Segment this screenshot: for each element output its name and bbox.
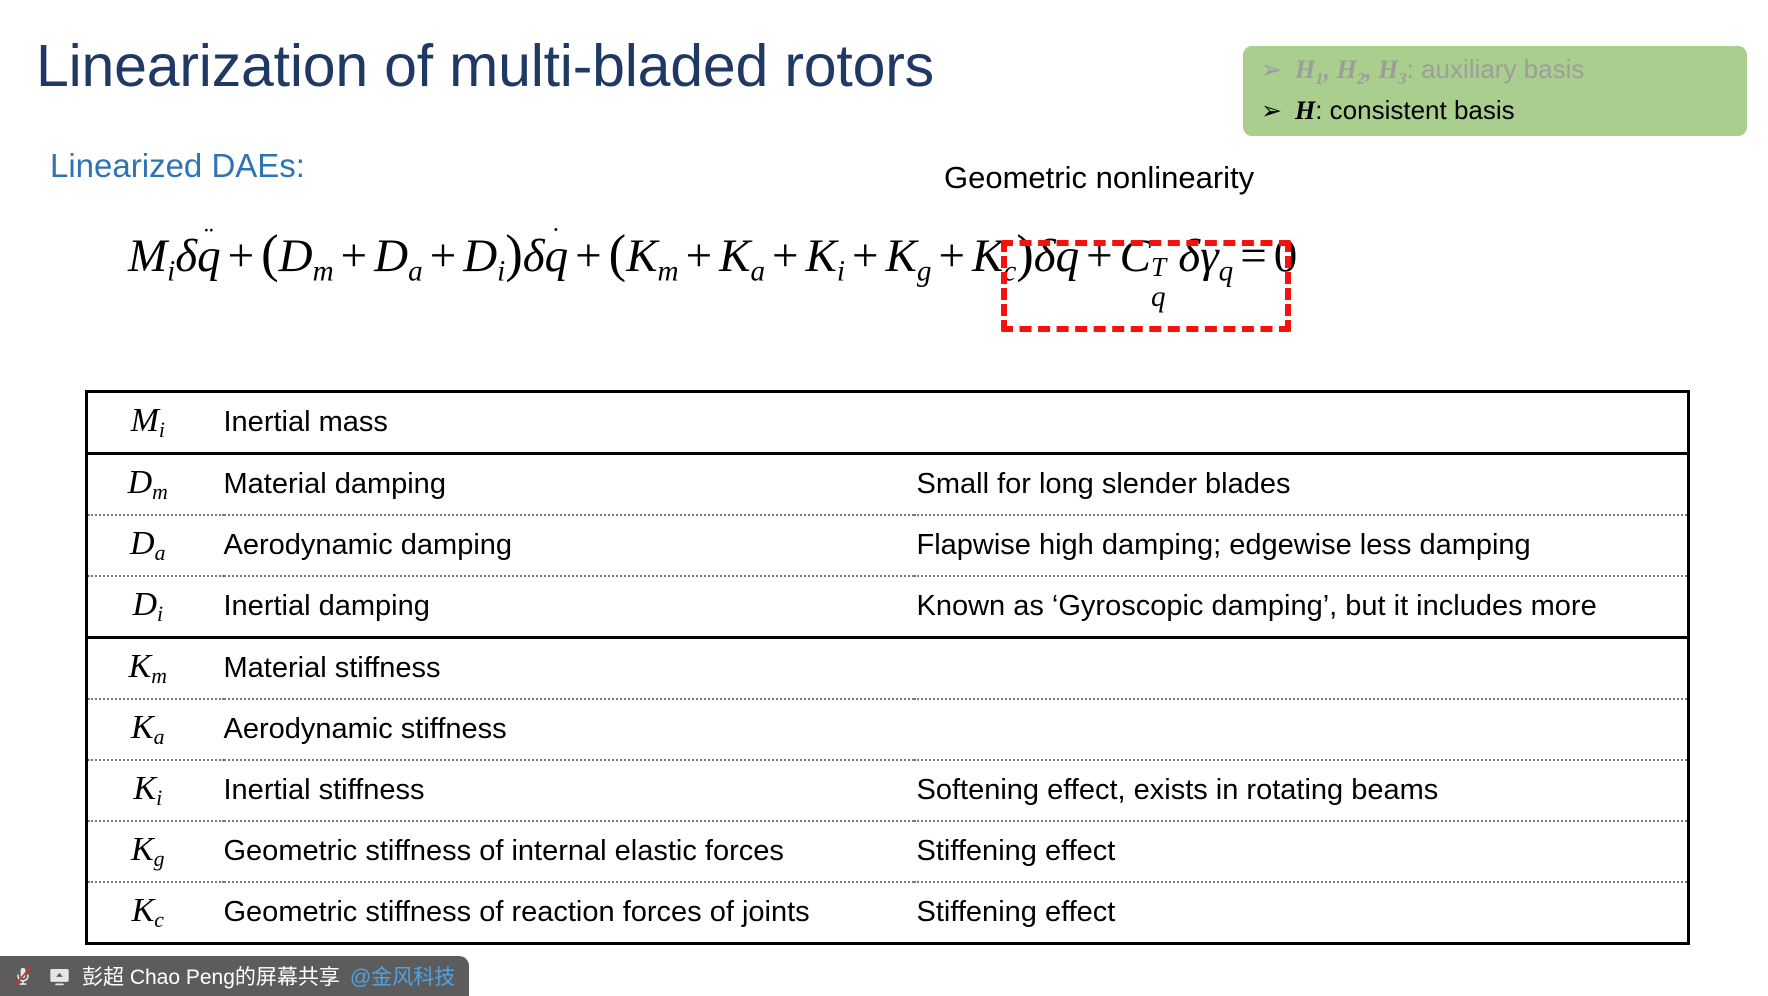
row-symbol-subscript: c <box>154 908 164 932</box>
row-symbol: Dm <box>87 454 224 516</box>
callout-item-text: H1, H2, H3: auxiliary basis <box>1295 54 1584 89</box>
callout-item-label: : auxiliary basis <box>1407 54 1585 84</box>
row-description: Material stiffness <box>224 638 914 700</box>
row-note <box>914 638 1689 700</box>
table-row: Di Inertial damping Known as ‘Gyroscopic… <box>87 576 1689 638</box>
row-symbol: Da <box>87 515 224 576</box>
row-symbol: Km <box>87 638 224 700</box>
share-user-label: 彭超 Chao Peng的屏幕共享 <box>82 961 340 991</box>
symbol-definition-table: Mi Inertial mass Dm Material damping Sma… <box>85 390 1690 945</box>
table-row: Kg Geometric stiffness of internal elast… <box>87 821 1689 882</box>
row-note: Stiffening effect <box>914 821 1689 882</box>
row-note: Stiffening effect <box>914 882 1689 944</box>
row-description: Geometric stiffness of reaction forces o… <box>224 882 914 944</box>
row-symbol: Di <box>87 576 224 638</box>
share-org-label: @金风科技 <box>350 961 455 991</box>
slide-canvas: Linearization of multi-bladed rotors Lin… <box>0 0 1768 996</box>
equation-rhs: 0 <box>1274 230 1298 282</box>
row-symbol-subscript: a <box>155 541 166 565</box>
microphone-muted-icon[interactable] <box>10 963 36 989</box>
row-symbol-subscript: m <box>151 664 167 688</box>
table-row: Da Aerodynamic damping Flapwise high dam… <box>87 515 1689 576</box>
arrow-bullet-icon: ➢ <box>1261 55 1295 85</box>
row-symbol-subscript: i <box>159 418 165 442</box>
row-symbol: Mi <box>87 392 224 454</box>
row-symbol-subscript: m <box>152 480 168 504</box>
row-symbol-subscript: i <box>156 786 162 810</box>
callout-item-text: H: consistent basis <box>1295 95 1515 126</box>
table-row: Ki Inertial stiffness Softening effect, … <box>87 760 1689 821</box>
section-subtitle: Linearized DAEs: <box>50 147 305 185</box>
geometric-nonlinearity-annotation: Geometric nonlinearity <box>944 160 1254 196</box>
callout-item-label: : consistent basis <box>1315 95 1514 125</box>
arrow-bullet-icon: ➢ <box>1261 96 1295 126</box>
row-note: Small for long slender blades <box>914 454 1689 516</box>
row-symbol: Ka <box>87 699 224 760</box>
row-note <box>914 392 1689 454</box>
table-row: Km Material stiffness <box>87 638 1689 700</box>
row-description: Inertial stiffness <box>224 760 914 821</box>
page-title: Linearization of multi-bladed rotors <box>36 36 934 98</box>
row-description: Inertial damping <box>224 576 914 638</box>
row-note: Softening effect, exists in rotating bea… <box>914 760 1689 821</box>
row-description: Material damping <box>224 454 914 516</box>
basis-callout-box: ➢ H1, H2, H3: auxiliary basis ➢ H: consi… <box>1243 46 1747 136</box>
row-symbol-subscript: g <box>154 847 165 871</box>
row-symbol-subscript: a <box>154 725 165 749</box>
row-note: Known as ‘Gyroscopic damping’, but it in… <box>914 576 1689 638</box>
table-row: Kc Geometric stiffness of reaction force… <box>87 882 1689 944</box>
table-row: Dm Material damping Small for long slend… <box>87 454 1689 516</box>
row-note <box>914 699 1689 760</box>
screen-share-status-bar[interactable]: 彭超 Chao Peng的屏幕共享 @金风科技 <box>0 956 469 996</box>
row-symbol: Kc <box>87 882 224 944</box>
linearized-dae-equation: Miδq¨+(Dm+Da+Di)δq̇+(Km+Ka+Ki+Kg+Kc)δq+C… <box>128 228 1297 286</box>
row-symbol: Ki <box>87 760 224 821</box>
table-row: Mi Inertial mass <box>87 392 1689 454</box>
row-note: Flapwise high damping; edgewise less dam… <box>914 515 1689 576</box>
row-symbol-subscript: i <box>157 602 163 626</box>
screen-share-icon[interactable] <box>46 963 72 989</box>
callout-item-auxiliary-basis: ➢ H1, H2, H3: auxiliary basis <box>1261 54 1747 95</box>
row-description: Inertial mass <box>224 392 914 454</box>
row-description: Aerodynamic damping <box>224 515 914 576</box>
table-row: Ka Aerodynamic stiffness <box>87 699 1689 760</box>
row-description: Geometric stiffness of internal elastic … <box>224 821 914 882</box>
callout-item-consistent-basis: ➢ H: consistent basis <box>1261 95 1747 136</box>
row-symbol: Kg <box>87 821 224 882</box>
row-description: Aerodynamic stiffness <box>224 699 914 760</box>
